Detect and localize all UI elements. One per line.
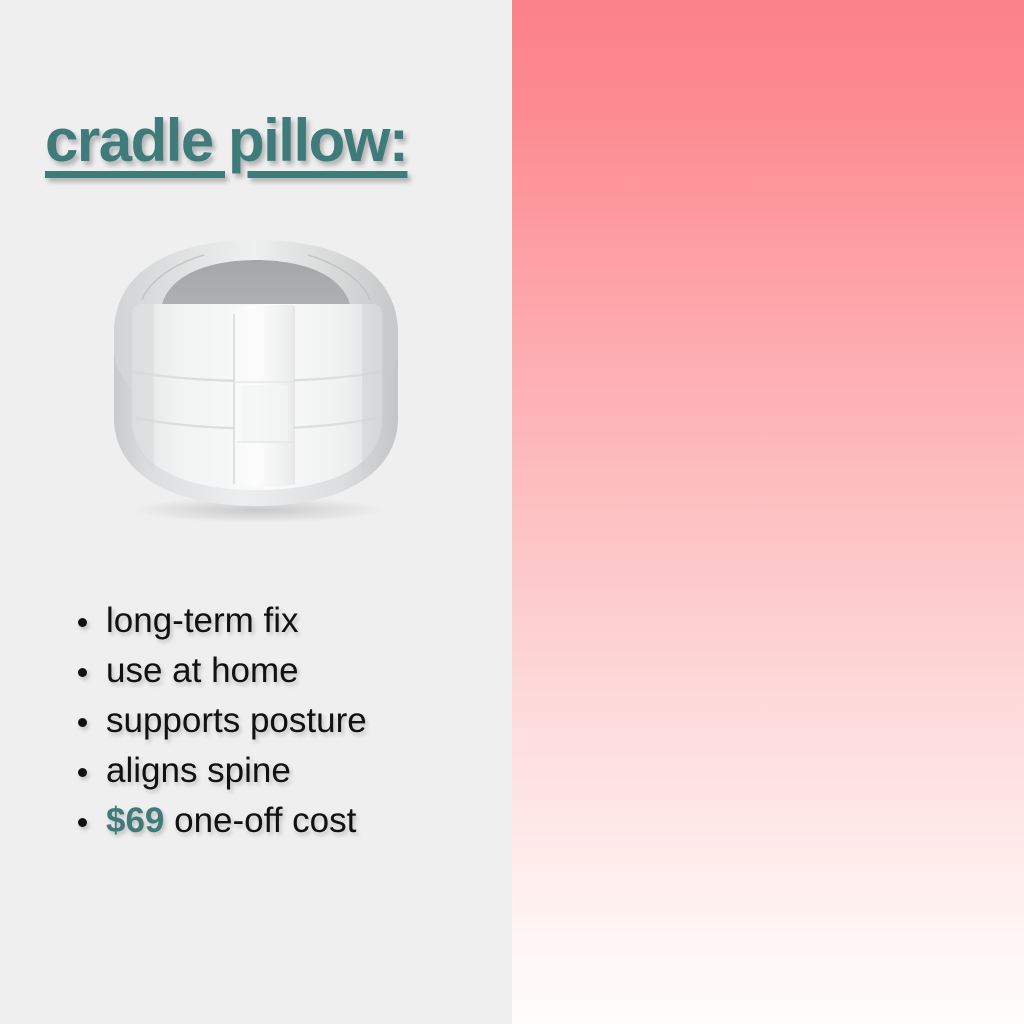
left-bullet-list: long-term fix use at home supports postu… xyxy=(70,596,367,846)
bullet-text: long-term fix xyxy=(106,601,299,640)
bullet-text: supports posture xyxy=(106,701,367,740)
bullet-text: one-off cost xyxy=(164,801,356,840)
right-panel-medication: medication xyxy=(512,0,1024,1024)
list-item-price: $69 one-off cost xyxy=(70,796,367,846)
list-item: aligns spine xyxy=(70,746,367,796)
bullet-text: aligns spine xyxy=(106,751,291,790)
price-value: $69 xyxy=(106,801,164,840)
list-item: use at home xyxy=(70,646,367,696)
cradle-pillow-product-photo xyxy=(96,222,416,522)
left-heading: cradle pillow: xyxy=(45,106,407,175)
list-item: long-term fix xyxy=(70,596,367,646)
left-panel-cradle-pillow: cradle pillow: xyxy=(0,0,512,1024)
list-item: supports posture xyxy=(70,696,367,746)
comparison-infographic: cradle pillow: xyxy=(0,0,1024,1024)
bullet-text: use at home xyxy=(106,651,299,690)
